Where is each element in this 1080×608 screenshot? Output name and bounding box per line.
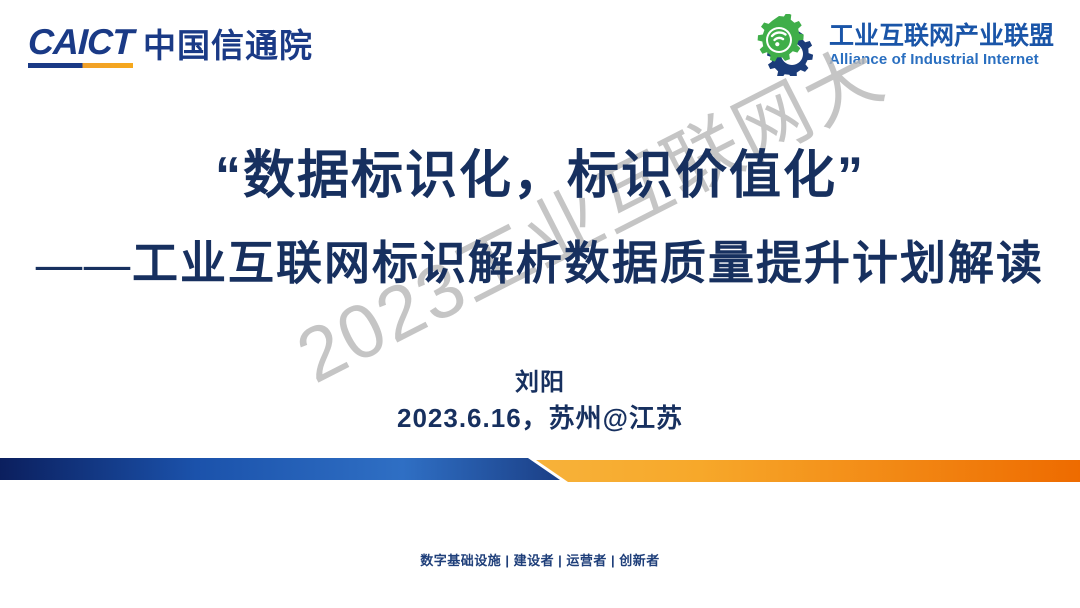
alliance-logo: 工业互联网产业联盟 Alliance of Industrial Interne… xyxy=(755,14,1054,76)
caict-logo: CAICT 中国信通院 xyxy=(28,24,313,68)
caict-acronym-text: CAICT xyxy=(27,24,133,60)
presenter-name: 刘阳 xyxy=(0,362,1080,397)
caict-chinese-name: 中国信通院 xyxy=(143,29,313,68)
alliance-english-name: Alliance of Industrial Internet xyxy=(829,52,1054,67)
decorative-ribbon xyxy=(0,449,1080,495)
caict-underline-bar xyxy=(28,63,133,68)
ribbon-orange-segment xyxy=(536,460,1080,482)
presentation-slide: CAICT 中国信通院 工业互联网产业联盟 xyxy=(0,0,1080,608)
footer-tagline: 数字基础设施 | 建设者 | 运营者 | 创新者 xyxy=(0,550,1080,569)
alliance-text-block: 工业互联网产业联盟 Alliance of Industrial Interne… xyxy=(829,23,1054,67)
gear-wifi-icon xyxy=(755,14,821,76)
presenter-date-location: 2023.6.16，苏州@江苏 xyxy=(0,398,1080,435)
caict-wordmark: CAICT xyxy=(28,24,133,68)
alliance-chinese-name: 工业互联网产业联盟 xyxy=(829,23,1054,49)
page-subtitle: ——工业互联网标识解析数据质量提升计划解读 xyxy=(0,238,1080,291)
ribbon-blue-segment xyxy=(0,458,560,480)
page-title: “数据标识化，标识价值化” xyxy=(0,148,1080,205)
